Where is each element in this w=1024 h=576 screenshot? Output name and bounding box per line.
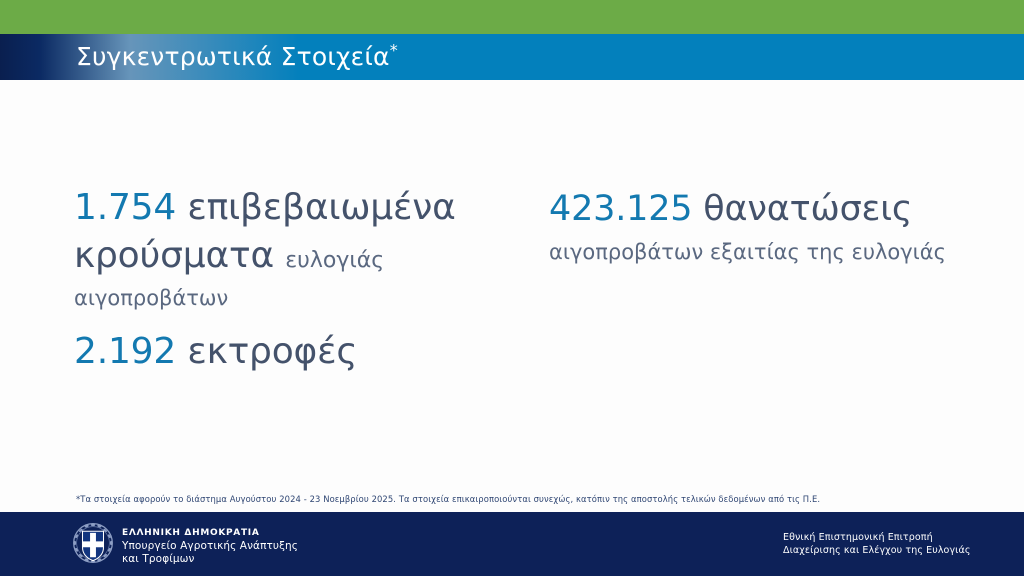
top-green-bar — [0, 0, 1024, 34]
stat-cases-sublabel: αιγοπροβάτων — [74, 283, 504, 313]
footnote: *Τα στοιχεία αφορούν το διάστημα Αυγούστ… — [76, 494, 956, 505]
stat-farms-line1: 2.192 εκτροφές — [74, 328, 504, 376]
stat-cases-label-small: ευλογιάς — [285, 248, 384, 273]
stat-culls-line1: 423.125 θανατώσεις — [549, 185, 979, 233]
stat-culled-animals: 423.125 θανατώσεις αιγοπροβάτων εξαιτίας… — [549, 185, 979, 267]
greek-coat-of-arms-icon — [72, 522, 114, 564]
ministry-line1: ΕΛΛΗΝΙΚΗ ΔΗΜΟΚΡΑΤΙΑ — [122, 527, 298, 540]
stat-culls-sublabel: αιγοπροβάτων εξαιτίας της ευλογιάς — [549, 237, 979, 267]
ministry-block: ΕΛΛΗΝΙΚΗ ΔΗΜΟΚΡΑΤΙΑ Υπουργείο Αγροτικής … — [122, 527, 298, 566]
page-title-asterisk: * — [390, 41, 398, 60]
stat-affected-farms: 2.192 εκτροφές — [74, 328, 504, 376]
stat-cases-number: 1.754 — [74, 187, 176, 228]
page-title: Συγκεντρωτικά Στοιχεία* — [76, 41, 398, 73]
ministry-line2: Υπουργείο Αγροτικής Ανάπτυξης — [122, 540, 298, 553]
ministry-line3: και Τροφίμων — [122, 553, 298, 566]
stat-cases-label-line2: κρούσματα — [74, 235, 274, 276]
stat-cases-label-main: επιβεβαιωμένα — [187, 187, 455, 228]
stat-confirmed-cases: 1.754 επιβεβαιωμένα κρούσματα ευλογιάς α… — [74, 184, 504, 313]
slide-root: Συγκεντρωτικά Στοιχεία* 1.754 επιβεβαιωμ… — [0, 0, 1024, 576]
stat-culls-label-main: θανατώσεις — [703, 189, 912, 229]
committee-line1: Εθνική Επιστημονική Επιτροπή — [783, 531, 971, 544]
stat-cases-line2: κρούσματα ευλογιάς — [74, 232, 504, 285]
committee-block: Εθνική Επιστημονική Επιτροπή Διαχείρισης… — [783, 531, 971, 557]
committee-line2: Διαχείρισης και Ελέγχου της Ευλογιάς — [783, 544, 971, 557]
statistics-area: 1.754 επιβεβαιωμένα κρούσματα ευλογιάς α… — [0, 80, 1024, 492]
page-title-text: Συγκεντρωτικά Στοιχεία — [76, 42, 390, 71]
stat-culls-number: 423.125 — [549, 189, 692, 229]
stat-farms-number: 2.192 — [74, 331, 176, 372]
stat-farms-label-main: εκτροφές — [187, 331, 357, 372]
stat-cases-line1: 1.754 επιβεβαιωμένα — [74, 184, 504, 232]
